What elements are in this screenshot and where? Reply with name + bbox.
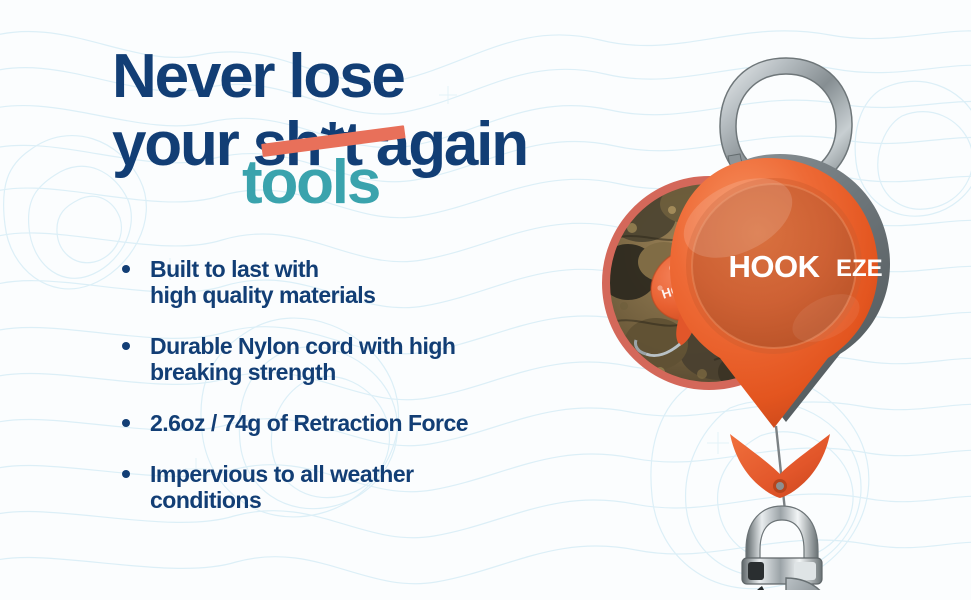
- bullet-dot-icon: [122, 419, 130, 427]
- list-item: Impervious to all weather conditions: [118, 461, 638, 513]
- product-banner: Never lose your sh*t again tools Built t…: [0, 0, 971, 600]
- feature-text: Durable Nylon cord with high breaking st…: [150, 333, 638, 385]
- list-item: Built to last with high quality material…: [118, 256, 638, 308]
- headline-block: Never lose your sh*t again tools: [112, 46, 672, 178]
- feature-text: 2.6oz / 74g of Retraction Force: [150, 410, 638, 436]
- headline-line-1: Never lose: [112, 46, 672, 108]
- headline-line-2-wrapper: your sh*t again tools: [112, 114, 672, 178]
- list-item: 2.6oz / 74g of Retraction Force: [118, 410, 638, 436]
- list-item: Durable Nylon cord with high breaking st…: [118, 333, 638, 385]
- product-logo: HOOK: [729, 249, 821, 284]
- bullet-dot-icon: [122, 265, 130, 273]
- bullet-dot-icon: [122, 470, 130, 478]
- feature-text: Impervious to all weather conditions: [150, 461, 638, 513]
- feature-list: Built to last with high quality material…: [118, 256, 638, 513]
- swivel-loop: [742, 506, 822, 584]
- retractor-body: HOOK EZE: [670, 158, 883, 428]
- feature-text: Built to last with high quality material…: [150, 256, 638, 308]
- logo-hook-text: HOOK: [729, 249, 821, 284]
- bullet-dot-icon: [122, 342, 130, 350]
- logo-eze-text: EZE: [836, 255, 883, 282]
- headline-line-2: your sh*t again: [112, 114, 672, 176]
- replacement-word-tools: tools: [242, 152, 379, 214]
